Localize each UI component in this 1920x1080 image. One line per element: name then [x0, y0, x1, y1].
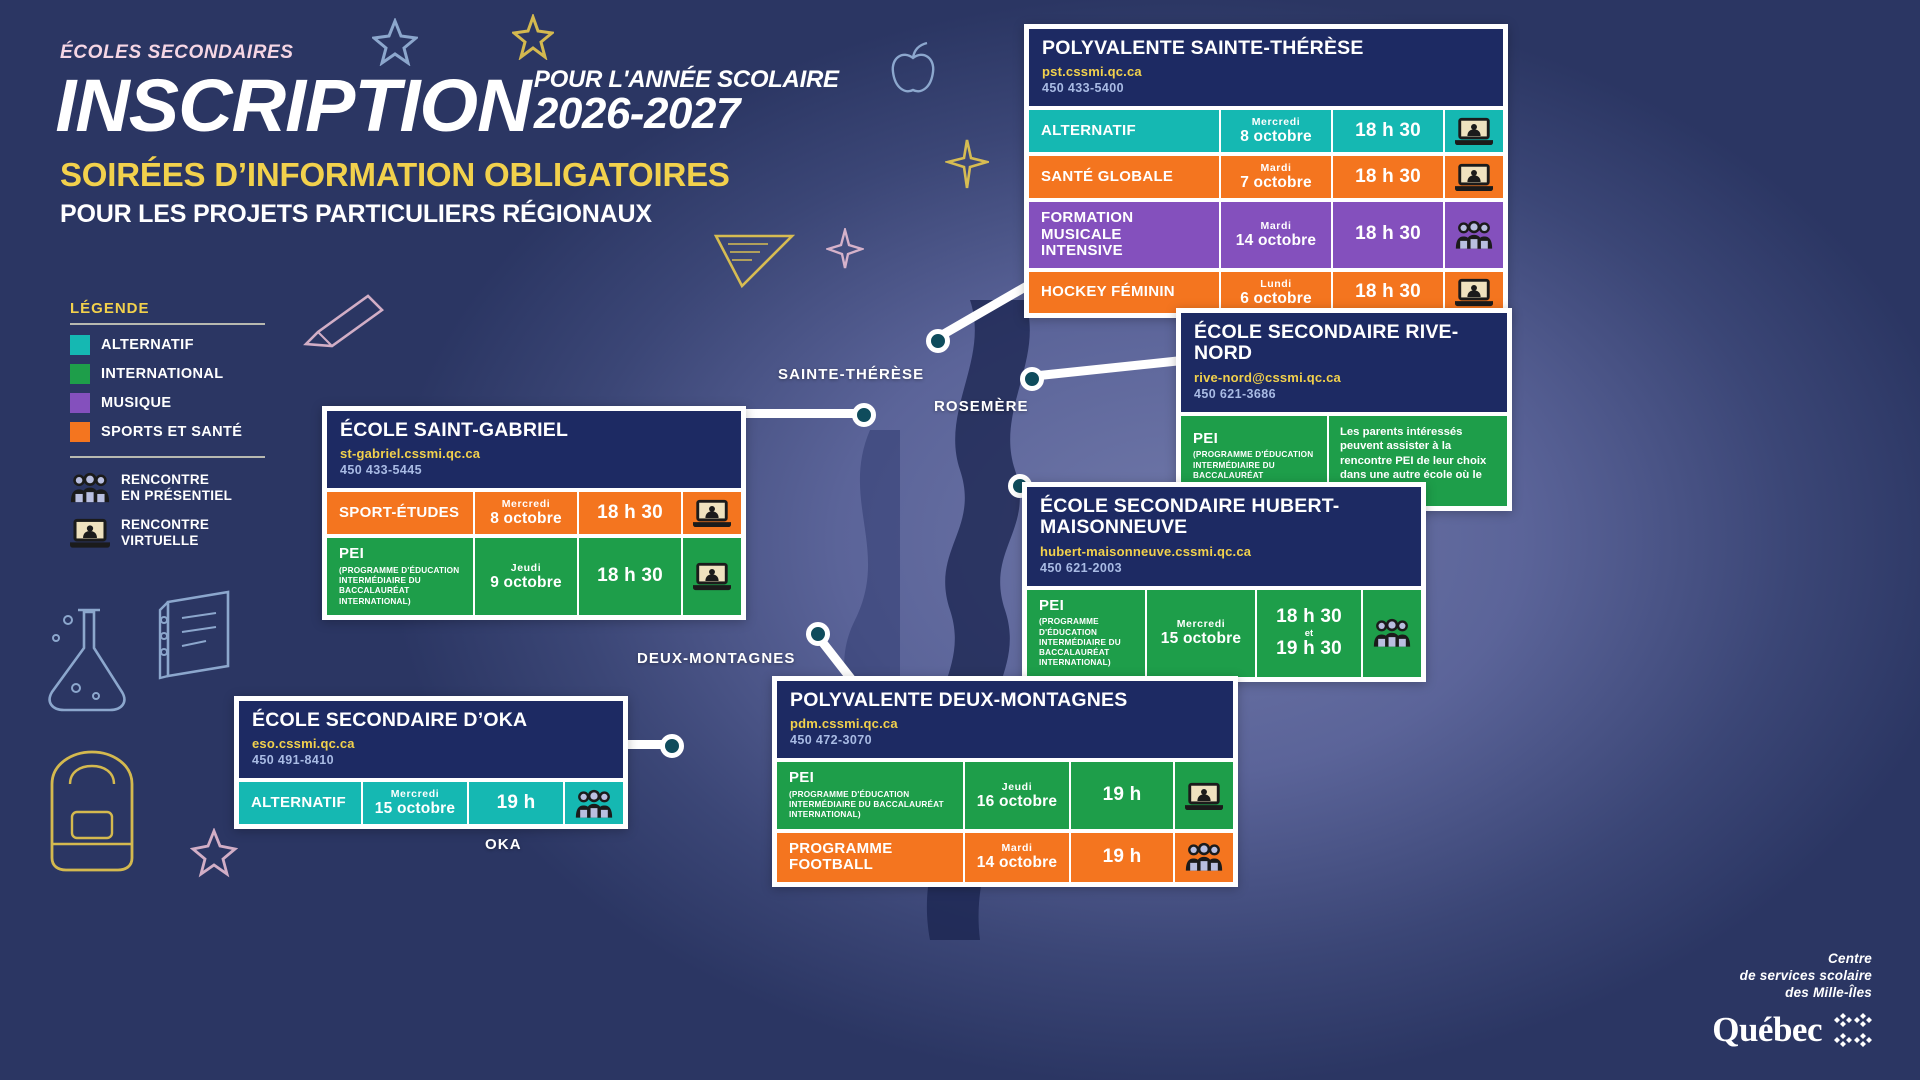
- in-person-icon: [1373, 618, 1411, 648]
- legend-item-international: INTERNATIONAL: [70, 364, 265, 384]
- card-header: ÉCOLE SECONDAIRE RIVE-NORDrive-nord@cssm…: [1181, 313, 1507, 412]
- school-phone[interactable]: 450 433-5445: [340, 463, 728, 477]
- program-cell: ALTERNATIF: [1029, 110, 1219, 152]
- legend-item-label: MUSIQUE: [101, 395, 171, 411]
- date-weekday: Mardi: [1001, 842, 1032, 854]
- virtual-icon: [1455, 278, 1493, 306]
- quebec-flag-icon: [1832, 1010, 1872, 1050]
- time-cell: 18 h 30: [577, 492, 681, 534]
- legend-color-list: ALTERNATIFINTERNATIONALMUSIQUESPORTS ET …: [70, 335, 265, 442]
- program-name: ALTERNATIF: [251, 795, 349, 812]
- in-person-icon: [1185, 842, 1223, 872]
- date-weekday: Mardi: [1260, 162, 1291, 174]
- legend-mode-virtual: RENCONTREVIRTUELLE: [70, 517, 265, 548]
- time-value: 18 h 30: [1355, 121, 1421, 142]
- legend-mode-line1: RENCONTRE: [121, 472, 232, 488]
- time-value: 18 h 30: [1355, 282, 1421, 303]
- meeting-mode-cell: [1173, 762, 1233, 828]
- meeting-mode-cell: [681, 492, 741, 534]
- card-header: ÉCOLE SECONDAIRE HUBERT-MAISONNEUVEhuber…: [1027, 487, 1421, 586]
- time-value: 19 h: [497, 793, 536, 814]
- poster-background: ÉCOLES SECONDAIRES INSCRIPTION POUR L'AN…: [0, 0, 1920, 1080]
- date-value: 6 octobre: [1240, 290, 1312, 308]
- program-subtitle: (PROGRAMME D'ÉDUCATION INTERMÉDIAIRE DU …: [789, 790, 951, 821]
- time-value: 18 h 30: [1355, 167, 1421, 188]
- card-header: POLYVALENTE DEUX-MONTAGNESpdm.cssmi.qc.c…: [777, 681, 1233, 758]
- time-cell: 18 h 30et19 h 30: [1255, 590, 1361, 677]
- program-name: PEI: [339, 546, 461, 563]
- virtual-icon: [1455, 117, 1493, 145]
- school-phone[interactable]: 450 472-3070: [790, 733, 1220, 747]
- school-card-pdm[interactable]: POLYVALENTE DEUX-MONTAGNESpdm.cssmi.qc.c…: [772, 676, 1238, 887]
- quebec-wordmark: Québec: [1712, 1010, 1822, 1050]
- program-name: PROGRAMME FOOTBALL: [789, 841, 951, 874]
- virtual-icon: [693, 499, 731, 527]
- page-title: INSCRIPTION: [55, 71, 530, 141]
- school-name: POLYVALENTE SAINTE-THÉRÈSE: [1042, 38, 1490, 59]
- date-weekday: Mercredi: [1177, 618, 1226, 630]
- legend-mode-line2: EN PRÉSENTIEL: [121, 488, 232, 504]
- legend-swatch: [70, 364, 90, 384]
- program-rows: ALTERNATIFMercredi8 octobre18 h 30 SANTÉ…: [1029, 110, 1503, 313]
- time-value: 18 h 30: [1276, 607, 1342, 628]
- school-name: ÉCOLE SECONDAIRE RIVE-NORD: [1194, 322, 1494, 365]
- city-label-oka: OKA: [485, 836, 522, 853]
- school-name: ÉCOLE SAINT-GABRIEL: [340, 420, 728, 441]
- program-name: HOCKEY FÉMININ: [1041, 284, 1207, 301]
- legend-mode-label: RENCONTREEN PRÉSENTIEL: [121, 472, 232, 503]
- school-card-st-gabriel[interactable]: ÉCOLE SAINT-GABRIELst-gabriel.cssmi.qc.c…: [322, 406, 746, 620]
- time-cell: 19 h: [467, 782, 563, 824]
- legend-mode-line1: RENCONTRE: [121, 517, 209, 533]
- footer-logo: Centre de services scolaire des Mille-Îl…: [1712, 951, 1872, 1050]
- date-value: 16 octobre: [977, 793, 1057, 811]
- virtual-icon: [70, 518, 110, 548]
- program-row: SANTÉ GLOBALEMardi7 octobre18 h 30: [1029, 156, 1503, 198]
- poster-header: ÉCOLES SECONDAIRES INSCRIPTION POUR L'AN…: [60, 42, 1040, 229]
- virtual-icon: [693, 562, 731, 590]
- time-cell: 18 h 30: [1331, 156, 1443, 198]
- program-name: PEI: [789, 770, 951, 787]
- school-phone[interactable]: 450 433-5400: [1042, 81, 1490, 95]
- meeting-mode-cell: [563, 782, 623, 824]
- meeting-mode-cell: [1361, 590, 1421, 677]
- date-weekday: Mercredi: [391, 788, 440, 800]
- time-value: 18 h 30: [1355, 224, 1421, 245]
- csl-line3: des Mille-Îles: [1712, 985, 1872, 1002]
- meeting-mode-cell: [1173, 833, 1233, 882]
- set-square-doodle: [712, 228, 796, 290]
- date-weekday: Mercredi: [1252, 116, 1301, 128]
- legend: LÉGENDE ALTERNATIFINTERNATIONALMUSIQUESP…: [70, 300, 265, 562]
- program-rows: SPORT-ÉTUDESMercredi8 octobre18 h 30 PEI…: [327, 492, 741, 614]
- city-label-deux-montagnes: DEUX-MONTAGNES: [637, 650, 795, 667]
- leader-line-pst: [934, 279, 1035, 343]
- program-cell: FORMATION MUSICALE INTENSIVE: [1029, 202, 1219, 268]
- school-phone[interactable]: 450 621-3686: [1194, 387, 1494, 401]
- date-weekday: Mercredi: [502, 498, 551, 510]
- legend-item-alternatif: ALTERNATIF: [70, 335, 265, 355]
- time-cell: 18 h 30: [1331, 110, 1443, 152]
- school-website[interactable]: pst.cssmi.qc.ca: [1042, 64, 1490, 79]
- date-weekday: Lundi: [1260, 278, 1292, 290]
- program-cell: PEI(PROGRAMME D'ÉDUCATION INTERMÉDIAIRE …: [1027, 590, 1145, 677]
- legend-swatch: [70, 393, 90, 413]
- legend-divider-bottom: [70, 456, 265, 458]
- program-subtitle: (PROGRAMME D'ÉDUCATION INTERMÉDIAIRE DU …: [339, 566, 461, 607]
- program-rows: ALTERNATIFMercredi15 octobre19 h: [239, 782, 623, 824]
- meeting-mode-cell: [1443, 156, 1503, 198]
- program-row: SPORT-ÉTUDESMercredi8 octobre18 h 30: [327, 492, 741, 534]
- legend-mode-list: RENCONTREEN PRÉSENTIEL RENCONTREVIRTUELL…: [70, 472, 265, 548]
- in-person-icon: [70, 472, 110, 503]
- school-website[interactable]: rive-nord@cssmi.qc.ca: [1194, 370, 1494, 385]
- program-name: PEI: [1039, 598, 1133, 615]
- time-cell: 18 h 30: [1331, 202, 1443, 268]
- time-cell: 19 h: [1069, 762, 1173, 828]
- book-doodle: [150, 588, 246, 684]
- date-value: 8 octobre: [1240, 128, 1312, 146]
- date-cell: Mercredi8 octobre: [1219, 110, 1331, 152]
- date-cell: Jeudi16 octobre: [963, 762, 1069, 828]
- date-value: 14 octobre: [1236, 232, 1316, 250]
- school-phone[interactable]: 450 621-2003: [1040, 561, 1408, 575]
- header-kicker: ÉCOLES SECONDAIRES: [60, 42, 1040, 64]
- date-value: 14 octobre: [977, 854, 1057, 872]
- legend-item-label: INTERNATIONAL: [101, 366, 224, 382]
- time-cell: 19 h: [1069, 833, 1173, 882]
- card-header: ÉCOLE SAINT-GABRIELst-gabriel.cssmi.qc.c…: [327, 411, 741, 488]
- csl-line1: Centre: [1712, 951, 1872, 968]
- backpack-doodle: [22, 740, 162, 880]
- date-value: 15 octobre: [1161, 630, 1241, 648]
- program-cell: SPORT-ÉTUDES: [327, 492, 473, 534]
- school-website[interactable]: pdm.cssmi.qc.ca: [790, 716, 1220, 731]
- virtual-icon: [1185, 782, 1223, 810]
- date-value: 8 octobre: [490, 510, 562, 528]
- program-row: ALTERNATIFMercredi8 octobre18 h 30: [1029, 110, 1503, 152]
- csl-line2: de services scolaire: [1712, 968, 1872, 985]
- program-name: SANTÉ GLOBALE: [1041, 169, 1207, 186]
- pencil-doodle: [296, 288, 392, 354]
- virtual-icon: [1455, 163, 1493, 191]
- program-cell: ALTERNATIF: [239, 782, 361, 824]
- time-value-secondary: 19 h 30: [1276, 639, 1342, 660]
- date-cell: Mercredi15 octobre: [1145, 590, 1255, 677]
- program-name: PEI: [1193, 431, 1315, 448]
- school-name: ÉCOLE SECONDAIRE D’OKA: [252, 710, 610, 731]
- school-phone[interactable]: 450 491-8410: [252, 753, 610, 767]
- meeting-mode-cell: [1443, 202, 1503, 268]
- date-weekday: Jeudi: [511, 562, 541, 574]
- program-cell: SANTÉ GLOBALE: [1029, 156, 1219, 198]
- in-person-icon: [575, 789, 613, 819]
- meeting-mode-cell: [681, 538, 741, 615]
- date-value: 7 octobre: [1240, 174, 1312, 192]
- school-name: POLYVALENTE DEUX-MONTAGNES: [790, 690, 1220, 711]
- program-name: ALTERNATIF: [1041, 123, 1207, 140]
- date-cell: Mercredi15 octobre: [361, 782, 467, 824]
- program-name: FORMATION MUSICALE INTENSIVE: [1041, 210, 1207, 260]
- program-subtitle: (PROGRAMME D'ÉDUCATION INTERMÉDIAIRE DU …: [1039, 617, 1133, 668]
- program-name: SPORT-ÉTUDES: [339, 505, 461, 522]
- program-row: PROGRAMME FOOTBALLMardi14 octobre19 h: [777, 833, 1233, 882]
- school-year-value: 2026-2027: [534, 94, 839, 134]
- date-cell: Mardi14 octobre: [963, 833, 1069, 882]
- school-year-block: POUR L'ANNÉE SCOLAIRE 2026-2027: [534, 66, 839, 140]
- legend-swatch: [70, 422, 90, 442]
- sparkle-doodle-pink: [826, 228, 864, 270]
- legend-swatch: [70, 335, 90, 355]
- time-value: 19 h: [1103, 847, 1142, 868]
- school-card-pst[interactable]: POLYVALENTE SAINTE-THÉRÈSEpst.cssmi.qc.c…: [1024, 24, 1508, 318]
- time-value: 18 h 30: [597, 566, 663, 587]
- program-row: ALTERNATIFMercredi15 octobre19 h: [239, 782, 623, 824]
- meeting-mode-cell: [1443, 110, 1503, 152]
- program-row: PEI(PROGRAMME D'ÉDUCATION INTERMÉDIAIRE …: [327, 538, 741, 615]
- legend-item-label: SPORTS ET SANTÉ: [101, 424, 242, 440]
- program-row: FORMATION MUSICALE INTENSIVEMardi14 octo…: [1029, 202, 1503, 268]
- in-person-icon: [70, 472, 110, 503]
- date-cell: Mercredi8 octobre: [473, 492, 577, 534]
- in-person-icon: [1455, 220, 1493, 250]
- virtual-icon: [70, 518, 110, 548]
- flask-doodle: [32, 596, 152, 716]
- school-website[interactable]: eso.cssmi.qc.ca: [252, 736, 610, 751]
- header-subtitle-1: SOIRÉES D’INFORMATION OBLIGATOIRES: [60, 156, 1040, 194]
- map-pin-pdm[interactable]: [806, 622, 830, 646]
- school-card-rive-nord[interactable]: ÉCOLE SECONDAIRE RIVE-NORDrive-nord@cssm…: [1176, 308, 1512, 511]
- legend-item-musique: MUSIQUE: [70, 393, 265, 413]
- date-weekday: Mardi: [1260, 220, 1291, 232]
- map-pin-oka[interactable]: [660, 734, 684, 758]
- date-cell: Mardi7 octobre: [1219, 156, 1331, 198]
- date-value: 15 octobre: [375, 800, 455, 818]
- school-name: ÉCOLE SECONDAIRE HUBERT-MAISONNEUVE: [1040, 496, 1408, 539]
- school-website[interactable]: hubert-maisonneuve.cssmi.qc.ca: [1040, 544, 1408, 559]
- date-cell: Jeudi9 octobre: [473, 538, 577, 615]
- legend-mode-in-person: RENCONTREEN PRÉSENTIEL: [70, 472, 265, 503]
- map-pin-rive-nord[interactable]: [1020, 367, 1044, 391]
- date-cell: Mardi14 octobre: [1219, 202, 1331, 268]
- time-value: 18 h 30: [597, 503, 663, 524]
- legend-divider-top: [70, 323, 265, 325]
- date-weekday: Jeudi: [1002, 781, 1032, 793]
- legend-mode-label: RENCONTREVIRTUELLE: [121, 517, 209, 548]
- time-value: 19 h: [1103, 785, 1142, 806]
- program-cell: PROGRAMME FOOTBALL: [777, 833, 963, 882]
- city-label-sainte-th-r-se: SAINTE-THÉRÈSE: [778, 366, 924, 383]
- card-header: POLYVALENTE SAINTE-THÉRÈSEpst.cssmi.qc.c…: [1029, 29, 1503, 106]
- legend-item-label: ALTERNATIF: [101, 337, 194, 353]
- school-card-hubert-maisonneuve[interactable]: ÉCOLE SECONDAIRE HUBERT-MAISONNEUVEhuber…: [1022, 482, 1426, 682]
- program-rows: PEI(PROGRAMME D'ÉDUCATION INTERMÉDIAIRE …: [777, 762, 1233, 881]
- map-pin-pst[interactable]: [926, 329, 950, 353]
- legend-title: LÉGENDE: [70, 300, 265, 317]
- school-website[interactable]: st-gabriel.cssmi.qc.ca: [340, 446, 728, 461]
- star-doodle-pink-bottom: [190, 828, 238, 878]
- program-rows: PEI(PROGRAMME D'ÉDUCATION INTERMÉDIAIRE …: [1027, 590, 1421, 677]
- legend-item-sports-et-sant: SPORTS ET SANTÉ: [70, 422, 265, 442]
- city-label-rosem-re: ROSEMÈRE: [934, 398, 1029, 415]
- map-pin-st-gabriel[interactable]: [852, 403, 876, 427]
- school-card-oka[interactable]: ÉCOLE SECONDAIRE D’OKAeso.cssmi.qc.ca450…: [234, 696, 628, 829]
- card-header: ÉCOLE SECONDAIRE D’OKAeso.cssmi.qc.ca450…: [239, 701, 623, 778]
- header-subtitle-2: POUR LES PROJETS PARTICULIERS RÉGIONAUX: [60, 200, 1040, 229]
- program-cell: PEI(PROGRAMME D'ÉDUCATION INTERMÉDIAIRE …: [327, 538, 473, 615]
- program-row: PEI(PROGRAMME D'ÉDUCATION INTERMÉDIAIRE …: [1027, 590, 1421, 677]
- program-cell: PEI(PROGRAMME D'ÉDUCATION INTERMÉDIAIRE …: [777, 762, 963, 828]
- date-value: 9 octobre: [490, 574, 562, 592]
- time-cell: 18 h 30: [577, 538, 681, 615]
- legend-mode-line2: VIRTUELLE: [121, 533, 209, 549]
- program-row: PEI(PROGRAMME D'ÉDUCATION INTERMÉDIAIRE …: [777, 762, 1233, 828]
